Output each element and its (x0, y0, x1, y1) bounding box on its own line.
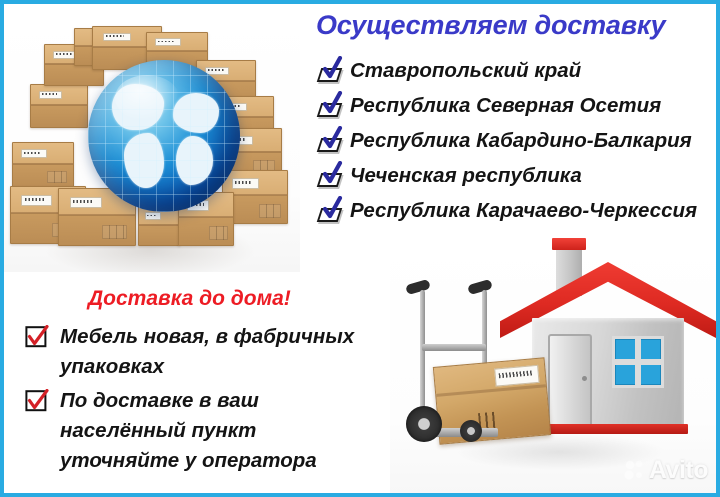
hand-truck-icon (398, 284, 538, 444)
check-glyph (321, 126, 343, 150)
advert-poster: Осуществляем доставку Ставропольский кра… (0, 0, 720, 497)
check-glyph (321, 196, 343, 220)
list-item: Республика Северная Осетия (316, 89, 720, 124)
red-check-in-square-icon (25, 389, 49, 412)
cardboard-box (30, 84, 88, 128)
globe-with-cardboard-boxes-image (0, 10, 300, 272)
blue-check-on-box-icon (316, 93, 346, 121)
blue-check-on-box-icon (316, 198, 346, 226)
check-glyph (321, 161, 343, 185)
region-label: Чеченская республика (350, 166, 582, 187)
truck-rung (422, 344, 486, 351)
promise-line: По доставке в ваш (60, 386, 390, 416)
door-knob-icon (582, 376, 587, 381)
house-base (528, 424, 688, 434)
wheel-icon (406, 406, 442, 442)
home-delivery-promises-list: Мебель новая, в фабричных упаковках По д… (22, 322, 390, 480)
check-glyph (321, 91, 343, 115)
handle-grip-icon (405, 279, 431, 295)
list-item: Республика Карачаево-Черкессия (316, 194, 720, 229)
section-title: Доставка до дома! (88, 287, 291, 311)
check-glyph (321, 56, 343, 80)
cardboard-box (12, 142, 74, 188)
handle-grip-icon (467, 279, 493, 295)
region-label: Республика Карачаево-Черкессия (350, 201, 697, 222)
list-item: По доставке в ваш населённый пункт уточн… (22, 386, 390, 476)
promise-line: упаковках (60, 352, 390, 382)
house-with-hand-truck-image (390, 238, 720, 493)
red-check-in-square-icon (25, 325, 49, 348)
blue-check-on-box-icon (316, 128, 346, 156)
region-label: Республика Северная Осетия (350, 96, 661, 117)
wheel-icon (460, 420, 482, 442)
promise-line: уточняйте у оператора (60, 446, 390, 476)
avito-watermark: Avito (624, 456, 708, 485)
delivery-regions-list: Ставропольский край Республика Северная … (316, 54, 720, 229)
avito-dots-logo-icon (624, 460, 646, 482)
globe-icon (88, 60, 240, 212)
list-item: Чеченская республика (316, 159, 720, 194)
region-label: Республика Кабардино-Балкария (350, 131, 692, 152)
region-label: Ставропольский край (350, 61, 581, 82)
list-item: Ставропольский край (316, 54, 720, 89)
blue-check-on-box-icon (316, 163, 346, 191)
page-title: Осуществляем доставку (316, 10, 665, 41)
avito-wordmark: Avito (649, 456, 708, 485)
blue-check-on-box-icon (316, 58, 346, 86)
cardboard-box (138, 206, 180, 246)
promise-line: населённый пункт (60, 416, 390, 446)
window-icon (612, 336, 664, 388)
list-item: Мебель новая, в фабричных упаковках (22, 322, 390, 382)
promise-line: Мебель новая, в фабричных (60, 322, 390, 352)
list-item: Республика Кабардино-Балкария (316, 124, 720, 159)
